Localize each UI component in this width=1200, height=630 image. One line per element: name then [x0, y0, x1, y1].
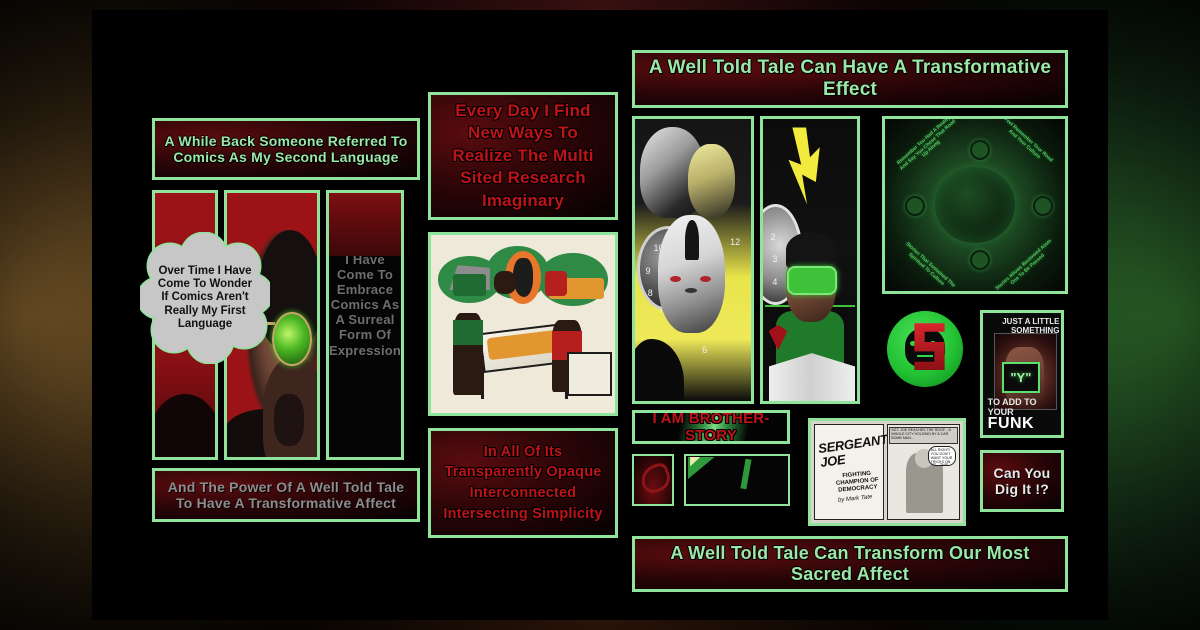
adinkra-glyph-top	[970, 140, 990, 160]
brother-story-banner: I AM BROTHER-STORY	[632, 410, 790, 444]
mask-eye-right	[700, 276, 711, 282]
left-footer-panel: And The Power Of A Well Told Tale To Hav…	[152, 468, 420, 522]
desk-comic-art	[431, 235, 615, 413]
adinkra-glyph-bottom	[970, 250, 990, 270]
adinkra-glyph-left	[905, 196, 925, 216]
emblem-text-bl: Stories That Sustained The Spiritual To …	[897, 239, 959, 294]
middle-bottom-caption-text: In All Of Its Transparently Opaque Inter…	[431, 431, 615, 535]
funk-line-3: FUNK	[988, 415, 1034, 433]
page-surface: A Well Told Tale Can Have A Transformati…	[92, 10, 1108, 620]
middle-bottom-caption-panel: In All Of Its Transparently Opaque Inter…	[428, 428, 618, 538]
top-banner-text: A Well Told Tale Can Have A Transformati…	[635, 53, 1065, 105]
collage-canvas: A Well Told Tale Can Have A Transformati…	[0, 0, 1200, 630]
bottom-banner: A Well Told Tale Can Transform Our Most …	[632, 536, 1068, 592]
caption-red-wash	[329, 193, 401, 256]
thumbnail-red	[632, 454, 674, 506]
skull-badge	[882, 306, 968, 392]
skull-badge-circle	[887, 311, 963, 387]
comic-book-prop	[567, 352, 611, 395]
mask-main	[658, 215, 725, 333]
emblem-text-tr: Feel Remember Your Road And Your Culture	[995, 116, 1057, 171]
masks-clocks-panel: 10 9 8 7 12 6	[632, 116, 754, 404]
cloud-figure-a	[453, 274, 486, 295]
portrait-lens-left	[272, 312, 312, 366]
mask-head-gold	[688, 144, 734, 217]
emblem-text-tl: Remember You Had A Reality And Say You C…	[895, 116, 961, 176]
funk-poster-panel: JUST A LITTLE SOMETHING "Y" TO ADD TO YO…	[980, 310, 1064, 438]
middle-top-caption-text: Every Day I Find New Ways To Realize The…	[431, 95, 615, 217]
emblem-text-br: Stories Allows Bestowed Atom One To Be P…	[995, 239, 1057, 294]
cloud-figure-c	[545, 271, 567, 296]
joe-title: SERGEANT JOE	[817, 434, 880, 469]
dig-it-panel: Can You Dig It !?	[980, 450, 1064, 512]
clock-number-12: 12	[730, 237, 740, 247]
mask-crest	[685, 220, 698, 260]
brother-story-text: I AM BROTHER-STORY	[635, 413, 787, 441]
reader-hair	[786, 232, 837, 269]
reader-clock-4: 4	[772, 277, 777, 287]
sergeant-joe-panel: SERGEANT JOE FIGHTING CHAMPION OF DEMOCR…	[808, 418, 966, 526]
top-banner: A Well Told Tale Can Have A Transformati…	[632, 50, 1068, 108]
left-header-text: A While Back Someone Referred To Comics …	[155, 121, 417, 177]
reader-goggles-icon	[787, 266, 836, 295]
emblem-art: Remember You Had A Reality And Say You C…	[885, 119, 1065, 291]
clock-number-8: 8	[648, 288, 653, 298]
portrait-beard	[274, 394, 305, 447]
masks-clocks-art: 10 9 8 7 12 6	[635, 119, 751, 401]
joe-byline: by Mark Tate	[838, 495, 873, 505]
skull-teeth	[917, 355, 933, 361]
joe-subtitle: FIGHTING CHAMPION OF DEMOCRACY	[834, 470, 880, 495]
left-side-caption-panel: .... Even As I Have Come To Embrace Comi…	[326, 190, 404, 460]
joe-speech-bubble: ALL RIGHT! YOU DON'T WANT YOUR TRICKS ON…	[928, 446, 956, 467]
middle-top-caption-panel: Every Day I Find New Ways To Realize The…	[428, 92, 618, 220]
reader-clock-2: 2	[771, 232, 776, 242]
mask-mouth	[685, 288, 697, 293]
mask-shadow	[632, 339, 684, 404]
left-header-panel: A While Back Someone Referred To Comics …	[152, 118, 420, 180]
dig-it-text: Can You Dig It !?	[983, 453, 1061, 509]
clock-number-9: 9	[645, 266, 650, 276]
funk-center-letter: "Y"	[1002, 362, 1040, 393]
slash-shape-bar	[741, 459, 752, 489]
reader-panel: 2 3 4	[760, 116, 860, 404]
standing-figure-shirt	[453, 320, 482, 345]
mask-eye-left	[670, 276, 681, 282]
desk-comic-panel	[428, 232, 618, 416]
reader-art: 2 3 4	[763, 119, 857, 401]
joe-cover: SERGEANT JOE FIGHTING CHAMPION OF DEMOCR…	[814, 424, 884, 520]
funk-line-1: JUST A LITTLE SOMETHING	[989, 317, 1059, 335]
s-glyph-icon	[914, 323, 944, 370]
left-footer-text: And The Power Of A Well Told Tale To Hav…	[155, 471, 417, 519]
bottom-banner-text: A Well Told Tale Can Transform Our Most …	[635, 539, 1065, 589]
emblem-panel: Remember You Had A Reality And Say You C…	[882, 116, 1068, 294]
thought-bubble: Over Time I Have Come To Wonder If Comic…	[140, 232, 270, 364]
adinkra-glyph-right	[1033, 196, 1053, 216]
sergeant-joe-art: SERGEANT JOE FIGHTING CHAMPION OF DEMOCR…	[811, 421, 963, 523]
thought-bubble-text: Over Time I Have Come To Wonder If Comic…	[140, 232, 270, 364]
joe-strip-caption: SGT. JOE REACHES THE ROOF... A WHOLE CIT…	[889, 427, 957, 444]
funk-poster-art: JUST A LITTLE SOMETHING "Y" TO ADD TO YO…	[983, 313, 1061, 435]
reader-clock-3: 3	[772, 254, 777, 264]
emblem-disc	[935, 167, 1014, 243]
thumbnail-green-slash	[684, 454, 790, 506]
cloud-figure-b	[494, 271, 516, 294]
table-artwork	[486, 329, 559, 360]
joe-strip: SGT. JOE REACHES THE ROOF... A WHOLE CIT…	[887, 424, 960, 520]
clock-number-6: 6	[702, 345, 707, 355]
